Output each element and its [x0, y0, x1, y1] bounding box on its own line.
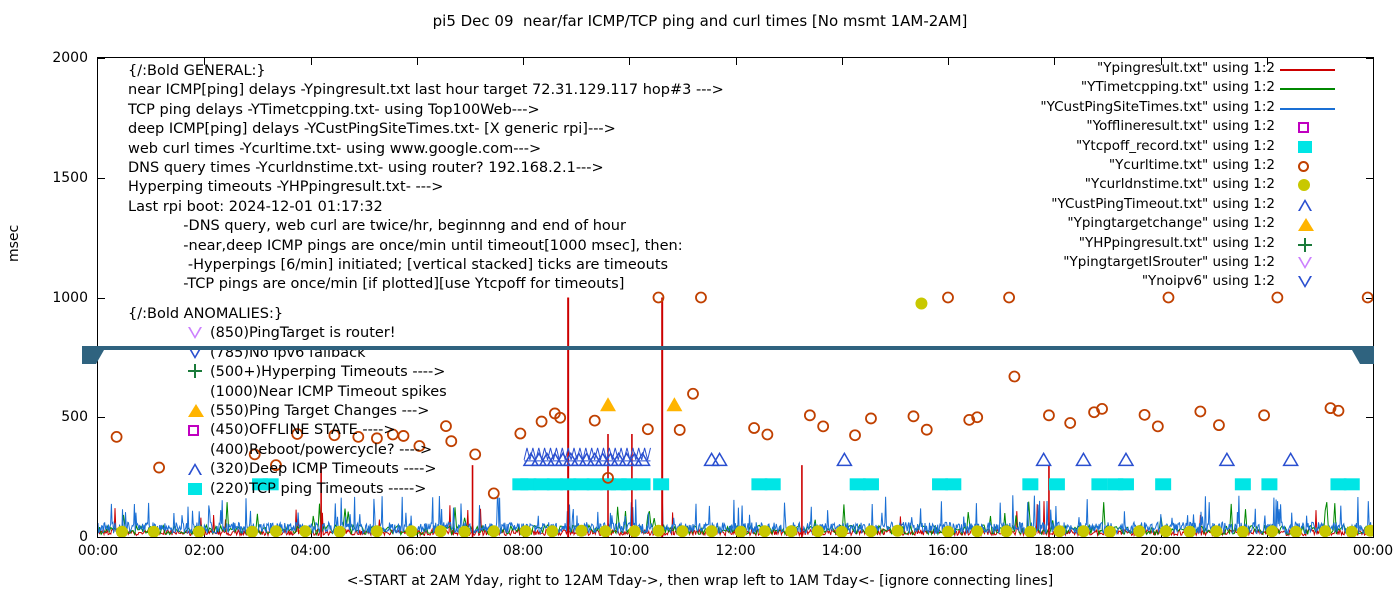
annotation-line: TCP ping delays -YTimetcpping.txt- using… — [128, 101, 724, 120]
legend-item-label: "Ypingtargetchange" using 1:2 — [1067, 215, 1275, 231]
anomaly-line: (320)Deep ICMP Timeouts ----> — [128, 460, 447, 479]
legend-line-swatch — [1280, 88, 1335, 90]
y-axis-label: msec — [6, 225, 22, 262]
chart-screenshot: pi5 Dec 09 near/far ICMP/TCP ping and cu… — [0, 0, 1400, 600]
legend-item: "Ycurldnstime.txt" using 1:2 — [940, 176, 1335, 195]
annotation-line: -Hyperpings [6/min] initiated; [vertical… — [128, 256, 724, 275]
anomaly-label: (850)PingTarget is router! — [210, 325, 396, 341]
legend-item-label: "Ycurldnstime.txt" using 1:2 — [1085, 176, 1275, 192]
legend-item-key-open-triangle-down-violet — [1280, 254, 1335, 273]
anomaly-line: (220)TCP ping Timeouts -----> — [128, 480, 447, 499]
legend-item: "Ypingtargetchange" using 1:2 — [940, 215, 1335, 234]
annotation-anomalies-header: {/:Bold ANOMALIES:} — [128, 305, 447, 324]
legend-item: "YTimetcpping.txt" using 1:2 — [940, 79, 1335, 98]
x-tick-label: 20:00 — [1121, 543, 1201, 559]
legend-symbol-swatch — [1298, 179, 1310, 195]
legend-symbol-swatch — [1298, 199, 1312, 215]
x-tick-label: 14:00 — [802, 543, 882, 559]
annotation-line: DNS query times -Ycurldnstime.txt- using… — [128, 159, 724, 178]
legend-line-swatch — [1280, 108, 1335, 110]
annotation-line: -near,deep ICMP pings are once/min until… — [128, 237, 724, 256]
legend-item-label: "Ycurltime.txt" using 1:2 — [1109, 157, 1275, 173]
anomaly-label: (220)TCP ping Timeouts -----> — [210, 481, 426, 497]
legend-symbol-swatch — [1298, 218, 1314, 235]
legend-item: "Ynoipv6" using 1:2 — [940, 273, 1335, 292]
legend-item-label: "YCustPingTimeout.txt" using 1:2 — [1051, 196, 1275, 212]
legend-item-label: "YTimetcpping.txt" using 1:2 — [1081, 79, 1275, 95]
legend-item: "Ypingresult.txt" using 1:2 — [940, 60, 1335, 79]
x-tick-label: 16:00 — [908, 543, 988, 559]
legend-item-label: "Ynoipv6" using 1:2 — [1142, 273, 1275, 289]
annotation-line: -DNS query, web curl are twice/hr, begin… — [128, 217, 724, 236]
annotation-line: -TCP pings are once/min [if plotted][use… — [128, 275, 724, 294]
legend-item-key-open-square-magenta — [1280, 118, 1335, 137]
anomaly-symbol-none — [188, 442, 210, 456]
legend-line-swatch — [1280, 69, 1335, 71]
x-axis-caption: <-START at 2AM Yday, right to 12AM Tday-… — [0, 573, 1400, 589]
legend-item-label: "YHPpingresult.txt" using 1:2 — [1079, 235, 1275, 251]
legend-item: "YHPpingresult.txt" using 1:2 — [940, 235, 1335, 254]
scroll-banner — [82, 346, 1374, 364]
legend-item: "Ycurltime.txt" using 1:2 — [940, 157, 1335, 176]
legend-item: "Ytcpoff_record.txt" using 1:2 — [940, 138, 1335, 157]
annotation-line: near ICMP[ping] delays -Ypingresult.txt … — [128, 81, 724, 100]
chart-title: pi5 Dec 09 near/far ICMP/TCP ping and cu… — [0, 12, 1400, 30]
anomaly-line: (1000)Near ICMP Timeout spikes — [128, 383, 447, 402]
legend-item-label: "YpingtargetISrouter" using 1:2 — [1063, 254, 1275, 270]
anomaly-line: (550)Ping Target Changes ---> — [128, 402, 447, 421]
legend-item-label: "YCustPingSiteTimes.txt" using 1:2 — [1040, 99, 1275, 115]
annotation-line: Last rpi boot: 2024-12-01 01:17:32 — [128, 198, 724, 217]
annotation-general-header: {/:Bold GENERAL:} — [128, 62, 724, 81]
anomaly-line: (450)OFFLINE STATE ----> — [128, 421, 447, 440]
x-tick-label: 18:00 — [1014, 543, 1094, 559]
legend-item-key-line-red — [1280, 60, 1335, 79]
legend-item-key-filled-circle-olive — [1280, 176, 1335, 195]
chart-legend: "Ypingresult.txt" using 1:2"YTimetcpping… — [940, 60, 1335, 293]
x-tick-label: 00:00 — [58, 543, 138, 559]
legend-item-key-open-circle-brown — [1280, 157, 1335, 176]
legend-item-label: "Yofflineresult.txt" using 1:2 — [1086, 118, 1275, 134]
series-points-filled-triangle-up — [600, 397, 682, 411]
x-tick-label: 02:00 — [164, 543, 244, 559]
legend-item-key-line-blue — [1280, 99, 1335, 118]
anomaly-symbol-plus-green — [188, 364, 210, 378]
x-tick-label: 04:00 — [271, 543, 351, 559]
legend-symbol-swatch — [1298, 276, 1312, 292]
anomaly-symbol-open-triangle-down-violet — [188, 326, 210, 340]
anomaly-label: (400)Reboot/powercycle? ----> — [210, 442, 432, 458]
anomaly-symbol-filled-square-cyan — [188, 482, 210, 496]
anomaly-symbol-none — [188, 384, 210, 398]
legend-symbol-swatch — [1298, 141, 1312, 157]
legend-item-label: "Ypingresult.txt" using 1:2 — [1097, 60, 1275, 76]
legend-item-key-filled-square-cyan — [1280, 138, 1335, 157]
legend-item: "YpingtargetISrouter" using 1:2 — [940, 254, 1335, 273]
x-tick-label: 00:00 — [1333, 543, 1400, 559]
x-tick-label: 06:00 — [377, 543, 457, 559]
anomaly-line: (850)PingTarget is router! — [128, 324, 447, 343]
x-tick-label: 08:00 — [483, 543, 563, 559]
legend-item-label: "Ytcpoff_record.txt" using 1:2 — [1076, 138, 1275, 154]
legend-symbol-swatch — [1298, 160, 1309, 176]
anomaly-label: (1000)Near ICMP Timeout spikes — [210, 384, 447, 400]
annotation-anomalies: {/:Bold ANOMALIES:}(850)PingTarget is ro… — [128, 305, 447, 499]
anomaly-symbol-open-triangle-up-blue — [188, 462, 210, 476]
y-tick-label: 2000 — [8, 50, 88, 66]
legend-item: "YCustPingTimeout.txt" using 1:2 — [940, 196, 1335, 215]
y-tick-label: 500 — [8, 409, 88, 425]
y-tick-label: 1500 — [8, 170, 88, 186]
anomaly-line: (400)Reboot/powercycle? ----> — [128, 441, 447, 460]
annotation-line: Hyperping timeouts -YHPpingresult.txt- -… — [128, 178, 724, 197]
anomaly-label: (500+)Hyperping Timeouts ----> — [210, 364, 445, 380]
legend-item: "YCustPingSiteTimes.txt" using 1:2 — [940, 99, 1335, 118]
anomaly-symbol-open-square-magenta — [188, 423, 210, 437]
legend-item-key-filled-triangle-up-orange — [1280, 215, 1335, 234]
legend-item-key-open-triangle-up-blue — [1280, 196, 1335, 215]
x-tick-label: 22:00 — [1227, 543, 1307, 559]
annotation-line: web curl times -Ycurltime.txt- using www… — [128, 140, 724, 159]
legend-symbol-swatch — [1298, 257, 1312, 273]
y-tick-label: 1000 — [8, 290, 88, 306]
anomaly-label: (450)OFFLINE STATE ----> — [210, 422, 396, 438]
anomaly-line: (500+)Hyperping Timeouts ----> — [128, 363, 447, 382]
anomaly-symbol-filled-triangle-up-orange — [188, 404, 210, 418]
legend-item-key-plus-green — [1280, 235, 1335, 254]
legend-symbol-swatch — [1298, 121, 1309, 137]
legend-item: "Yofflineresult.txt" using 1:2 — [940, 118, 1335, 137]
anomaly-label: (320)Deep ICMP Timeouts ----> — [210, 461, 437, 477]
annotation-line: deep ICMP[ping] delays -YCustPingSiteTim… — [128, 120, 724, 139]
anomaly-label: (550)Ping Target Changes ---> — [210, 403, 429, 419]
annotation-general: {/:Bold GENERAL:}near ICMP[ping] delays … — [128, 62, 724, 295]
x-tick-label: 12:00 — [696, 543, 776, 559]
legend-item-key-open-triangle-down-blue — [1280, 273, 1335, 292]
x-tick-label: 10:00 — [589, 543, 669, 559]
legend-item-key-line-green — [1280, 79, 1335, 98]
legend-symbol-swatch — [1298, 238, 1312, 256]
